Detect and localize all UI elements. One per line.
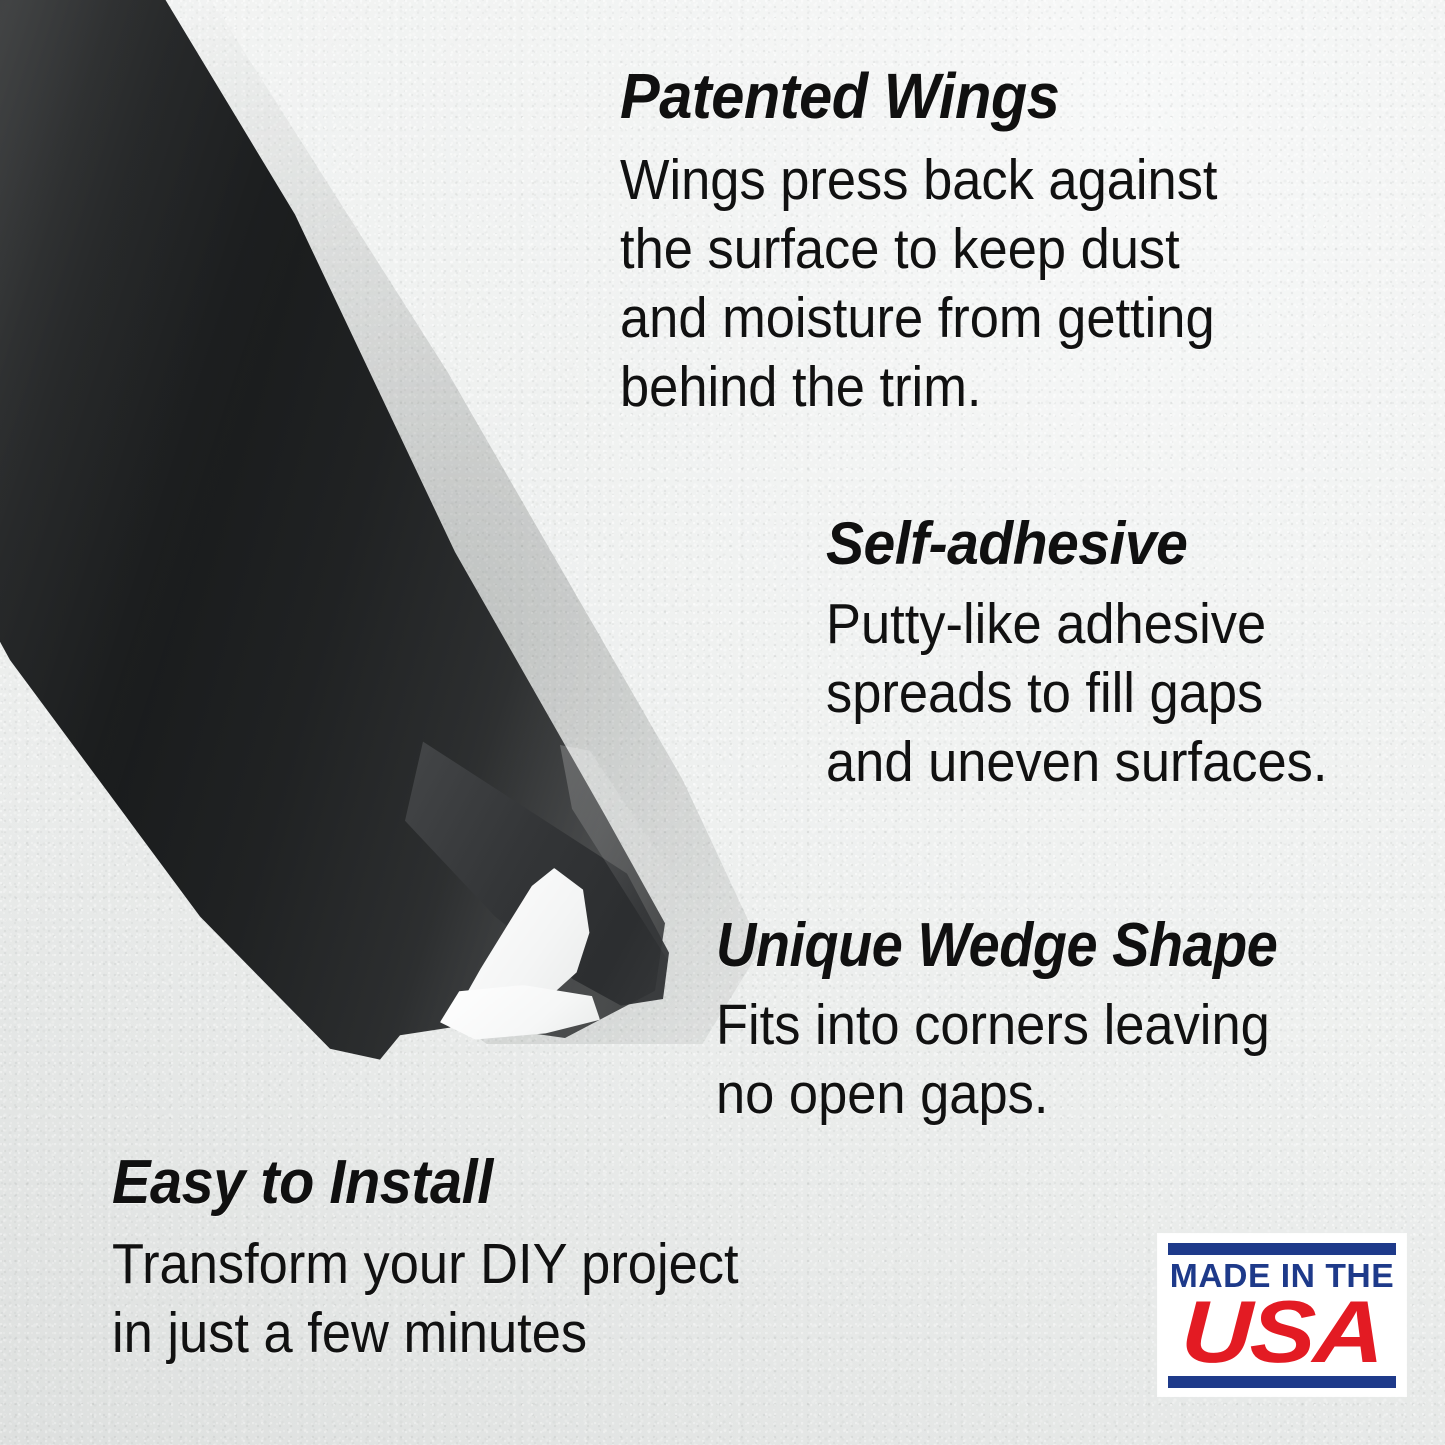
feature-block-patented-wings: Patented Wings Wings press back against … <box>620 64 1269 428</box>
feature-description-line: and uneven surfaces. <box>826 734 1327 791</box>
feature-block-self-adhesive: Self-adhesive Putty-like adhesive spread… <box>826 514 1371 803</box>
feature-heading: Patented Wings <box>620 64 1224 128</box>
feature-description-line: Putty-like adhesive <box>826 596 1327 653</box>
feature-description-line: Fits into corners leaving <box>716 997 1290 1054</box>
feature-heading: Unique Wedge Shape <box>716 915 1277 977</box>
feature-heading: Self-adhesive <box>826 514 1344 574</box>
feature-description-line: spreads to fill gaps <box>826 665 1327 722</box>
feature-description-line: and moisture from getting <box>620 290 1218 347</box>
feature-description: Putty-like adhesive spreads to fill gaps… <box>826 596 1371 791</box>
product-feature-infographic: Patented Wings Wings press back against … <box>0 0 1445 1445</box>
feature-description-line: Transform your DIY project <box>112 1236 739 1293</box>
feature-description: Fits into corners leaving no open gaps. <box>716 997 1340 1123</box>
feature-description-line: the surface to keep dust <box>620 221 1218 278</box>
feature-block-unique-wedge-shape: Unique Wedge Shape Fits into corners lea… <box>716 915 1340 1135</box>
badge-top-bar <box>1168 1243 1396 1255</box>
feature-description: Wings press back against the surface to … <box>620 152 1269 416</box>
made-in-usa-badge: MADE IN THE USA <box>1158 1234 1406 1396</box>
feature-description-line: no open gaps. <box>716 1066 1290 1123</box>
feature-heading: Easy to Install <box>112 1152 745 1214</box>
feature-description-line: Wings press back against <box>620 152 1218 209</box>
badge-usa-text: USA <box>1153 1288 1412 1375</box>
feature-description: Transform your DIY project in just a few… <box>112 1236 793 1362</box>
feature-description-line: behind the trim. <box>620 359 1218 416</box>
feature-block-easy-to-install: Easy to Install Transform your DIY proje… <box>112 1152 793 1374</box>
feature-description-line: in just a few minutes <box>112 1305 739 1362</box>
